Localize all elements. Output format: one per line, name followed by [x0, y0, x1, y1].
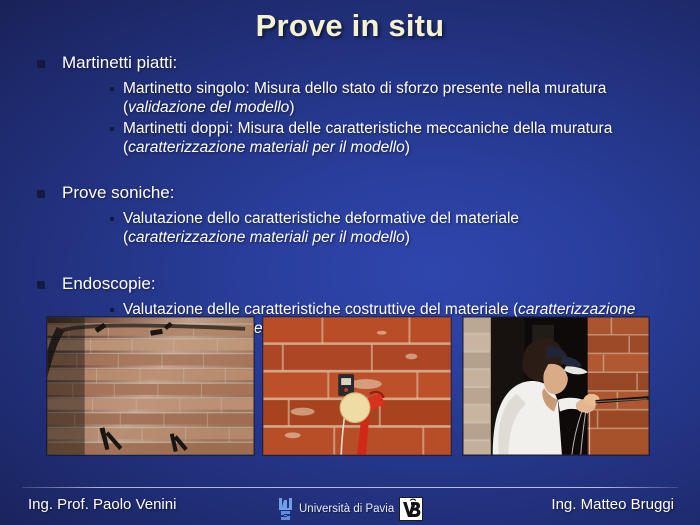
bullet-level1-endoscopie: Endoscopie: [0, 273, 700, 295]
spacer [0, 74, 700, 77]
university-of-pavia-logo [277, 496, 294, 522]
slide-canvas: Prove in situ Martinetti piatti: Martine… [0, 0, 700, 525]
spacer [0, 295, 700, 298]
photo-strip [46, 316, 650, 456]
endoscopy-operator-photo [462, 316, 650, 456]
bullet-level2-tail: ) [405, 139, 410, 156]
bullet-level2-martinetto-singolo: Martinetto singolo: Misura dello stato d… [0, 79, 700, 117]
bullet-level1-label: Endoscopie: [62, 274, 156, 293]
slide-footer: Ing. Prof. Paolo Venini Università di Pa… [0, 492, 700, 525]
spacer [0, 204, 700, 207]
flat-jack-brick-wall-photo [46, 316, 255, 456]
sonic-test-brick-wall-photo [262, 316, 452, 456]
bullet-level1-martinetti-piatti: Martinetti piatti: [0, 52, 700, 74]
bullet-level2-tail: ) [405, 229, 410, 246]
dot-bullet-icon [110, 127, 114, 131]
content-group-martinetti-piatti: Martinetti piatti: Martinetto singolo: M… [0, 52, 700, 157]
bullet-level2-valutazione-deformative: Valutazione dello caratteristiche deform… [0, 209, 700, 247]
footer-university-label: Università di Pavia [299, 503, 394, 515]
square-bullet-icon [37, 60, 44, 67]
slide-body: Martinetti piatti: Martinetto singolo: M… [0, 52, 700, 338]
dot-bullet-icon [110, 308, 114, 312]
bullet-level2-tail: ) [289, 99, 294, 116]
bullet-level2-emphasis: validazione del modello [128, 99, 289, 116]
footer-divider [22, 487, 678, 488]
bullet-level1-label: Prove soniche: [62, 183, 174, 202]
footer-university-block: Università di Pavia [277, 492, 423, 525]
footer-author-left: Ing. Prof. Paolo Venini [28, 496, 176, 513]
spacer [0, 157, 700, 182]
footer-author-right: Ing. Matteo Bruggi [551, 496, 674, 513]
bullet-level1-label: Martinetti piatti: [62, 53, 177, 72]
square-bullet-icon [37, 190, 44, 197]
bullet-level2-emphasis: caratterizzazione materiali per il model… [128, 139, 405, 156]
bullet-level2-emphasis: caratterizzazione materiali per il model… [128, 229, 405, 246]
vb-monogram-logo [399, 497, 423, 521]
spacer [0, 247, 700, 273]
page-title: Prove in situ [0, 8, 700, 44]
content-group-prove-soniche: Prove soniche: Valutazione dello caratte… [0, 182, 700, 247]
square-bullet-icon [37, 281, 44, 288]
bullet-level1-prove-soniche: Prove soniche: [0, 182, 700, 204]
dot-bullet-icon [110, 87, 114, 91]
dot-bullet-icon [110, 217, 114, 221]
bullet-level2-martinetti-doppi: Martinetti doppi: Misura delle caratteri… [0, 119, 700, 157]
